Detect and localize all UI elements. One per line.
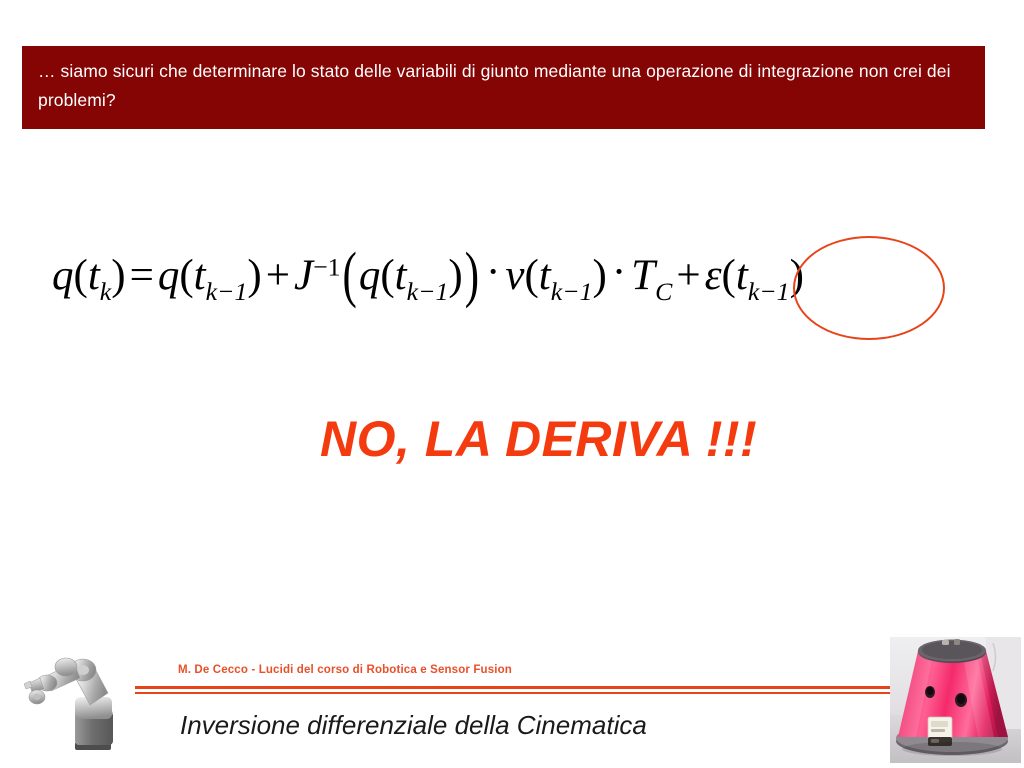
formula-token-lparen-4: ( [524, 252, 538, 299]
robot-arm-photo [22, 645, 128, 758]
formula-sub-km1-2: k−1 [407, 277, 449, 306]
formula-sub-c: C [655, 277, 672, 306]
formula-token-t3: t [395, 252, 407, 299]
footer-rule-line-top [135, 686, 890, 689]
formula-token-rparen-2: ) [247, 252, 261, 299]
formula-token-dot-2: · [607, 249, 631, 296]
formula-token-t1: t [88, 252, 100, 299]
formula-token-q1: q [52, 252, 74, 299]
cone-robot-photo [890, 637, 1021, 763]
formula-token-plus-2: + [672, 252, 704, 299]
formula-sub-km1-3: k−1 [551, 277, 593, 306]
formula-sub-km1-4: k−1 [748, 277, 790, 306]
slide-footer-title: Inversione differenziale della Cinematic… [180, 710, 647, 741]
formula-token-rparen-1: ) [111, 252, 125, 299]
formula-token-epsilon: ε [705, 252, 722, 299]
formula-token-rparen-4: ) [593, 252, 607, 299]
formula-token-v: v [505, 252, 524, 299]
formula-block: q(tk)=q(tk−1)+J−1(q(tk−1))·v(tk−1)·TC+ε(… [52, 238, 972, 348]
formula-token-lparen-5: ( [722, 252, 736, 299]
robot-arm-icon [22, 645, 128, 758]
header-banner-text: … siamo sicuri che determinare lo stato … [38, 57, 969, 115]
drift-callout-text: NO, LA DERIVA !!! [320, 412, 757, 467]
kinematics-formula: q(tk)=q(tk−1)+J−1(q(tk−1))·v(tk−1)·TC+ε(… [52, 254, 804, 305]
formula-token-q3: q [359, 252, 381, 299]
formula-token-lparen-1: ( [74, 252, 88, 299]
formula-token-equals: = [126, 252, 158, 299]
formula-token-sample-period: T [631, 252, 655, 299]
formula-token-q2: q [158, 252, 180, 299]
formula-token-rparen-3: ) [448, 252, 462, 299]
formula-token-t4: t [539, 252, 551, 299]
formula-token-dot-1: · [481, 249, 505, 296]
cone-robot-icon [890, 637, 1021, 763]
header-banner: … siamo sicuri che determinare lo stato … [22, 46, 985, 129]
formula-sup-inverse: −1 [313, 253, 340, 282]
footer-divider-rule [135, 686, 890, 695]
formula-token-lparen-3: ( [380, 252, 394, 299]
formula-sub-k1: k [100, 277, 111, 306]
formula-token-t5: t [736, 252, 748, 299]
formula-token-big-rparen: ) [463, 244, 481, 306]
formula-token-t2: t [194, 252, 206, 299]
formula-token-big-lparen: ( [341, 244, 359, 306]
formula-token-lparen-2: ( [179, 252, 193, 299]
footer-rule-line-bottom [135, 692, 890, 694]
formula-token-rparen-5: ) [790, 252, 804, 299]
formula-token-jacobian: J [294, 252, 313, 299]
formula-token-plus-1: + [262, 252, 294, 299]
footer-credit-text: M. De Cecco - Lucidi del corso di Roboti… [178, 664, 512, 676]
formula-sub-km1-1: k−1 [206, 277, 248, 306]
